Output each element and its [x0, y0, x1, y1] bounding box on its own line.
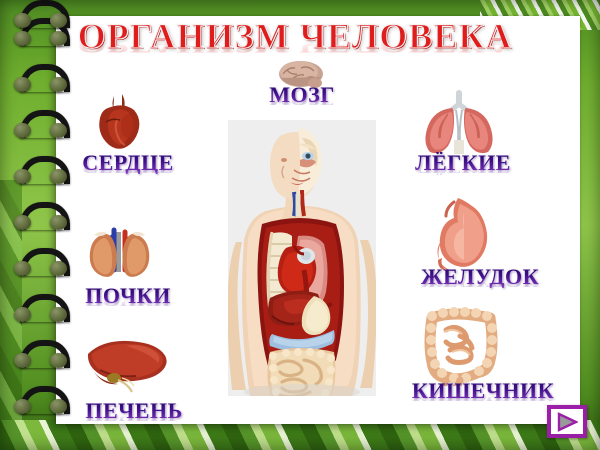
spiral-binding-icon [0, 0, 60, 450]
label-intestine: КИШЕЧНИК КИШЕЧНИК [394, 380, 572, 425]
spiral-ring [14, 340, 66, 374]
play-triangle-icon [556, 412, 578, 432]
spiral-ring [14, 64, 66, 98]
spiral-ring [14, 248, 66, 282]
slide-canvas: ОРГАНИЗМ ЧЕЛОВЕКА ОРГАНИЗМ ЧЕЛОВЕКА МОЗГ… [0, 0, 600, 450]
anatomical-torso-model [228, 120, 376, 396]
kidneys-organ-icon [84, 222, 160, 284]
heart-organ-icon [88, 92, 152, 152]
spiral-ring [14, 110, 66, 144]
spiral-ring [14, 202, 66, 236]
label-kidneys: ПОЧКИ ПОЧКИ [76, 285, 180, 330]
label-stomach: ЖЕЛУДОК ЖЕЛУДОК [404, 266, 556, 311]
stomach-organ-icon [428, 196, 500, 272]
label-liver: ПЕЧЕНЬ ПЕЧЕНЬ [72, 400, 196, 445]
spiral-ring [14, 294, 66, 328]
spiral-ring [14, 0, 66, 34]
liver-organ-icon [80, 336, 180, 400]
page-title-reflection: ОРГАНИЗМ ЧЕЛОВЕКА [60, 36, 530, 56]
lungs-organ-icon [418, 88, 500, 154]
spiral-ring [14, 386, 66, 420]
spiral-ring [14, 156, 66, 190]
label-lungs: ЛЁГКИЕ ЛЁГКИЕ [404, 152, 522, 197]
next-slide-button[interactable] [547, 405, 587, 438]
intestine-organ-icon [416, 306, 506, 386]
label-heart: СЕРДЦЕ СЕРДЦЕ [70, 152, 186, 197]
